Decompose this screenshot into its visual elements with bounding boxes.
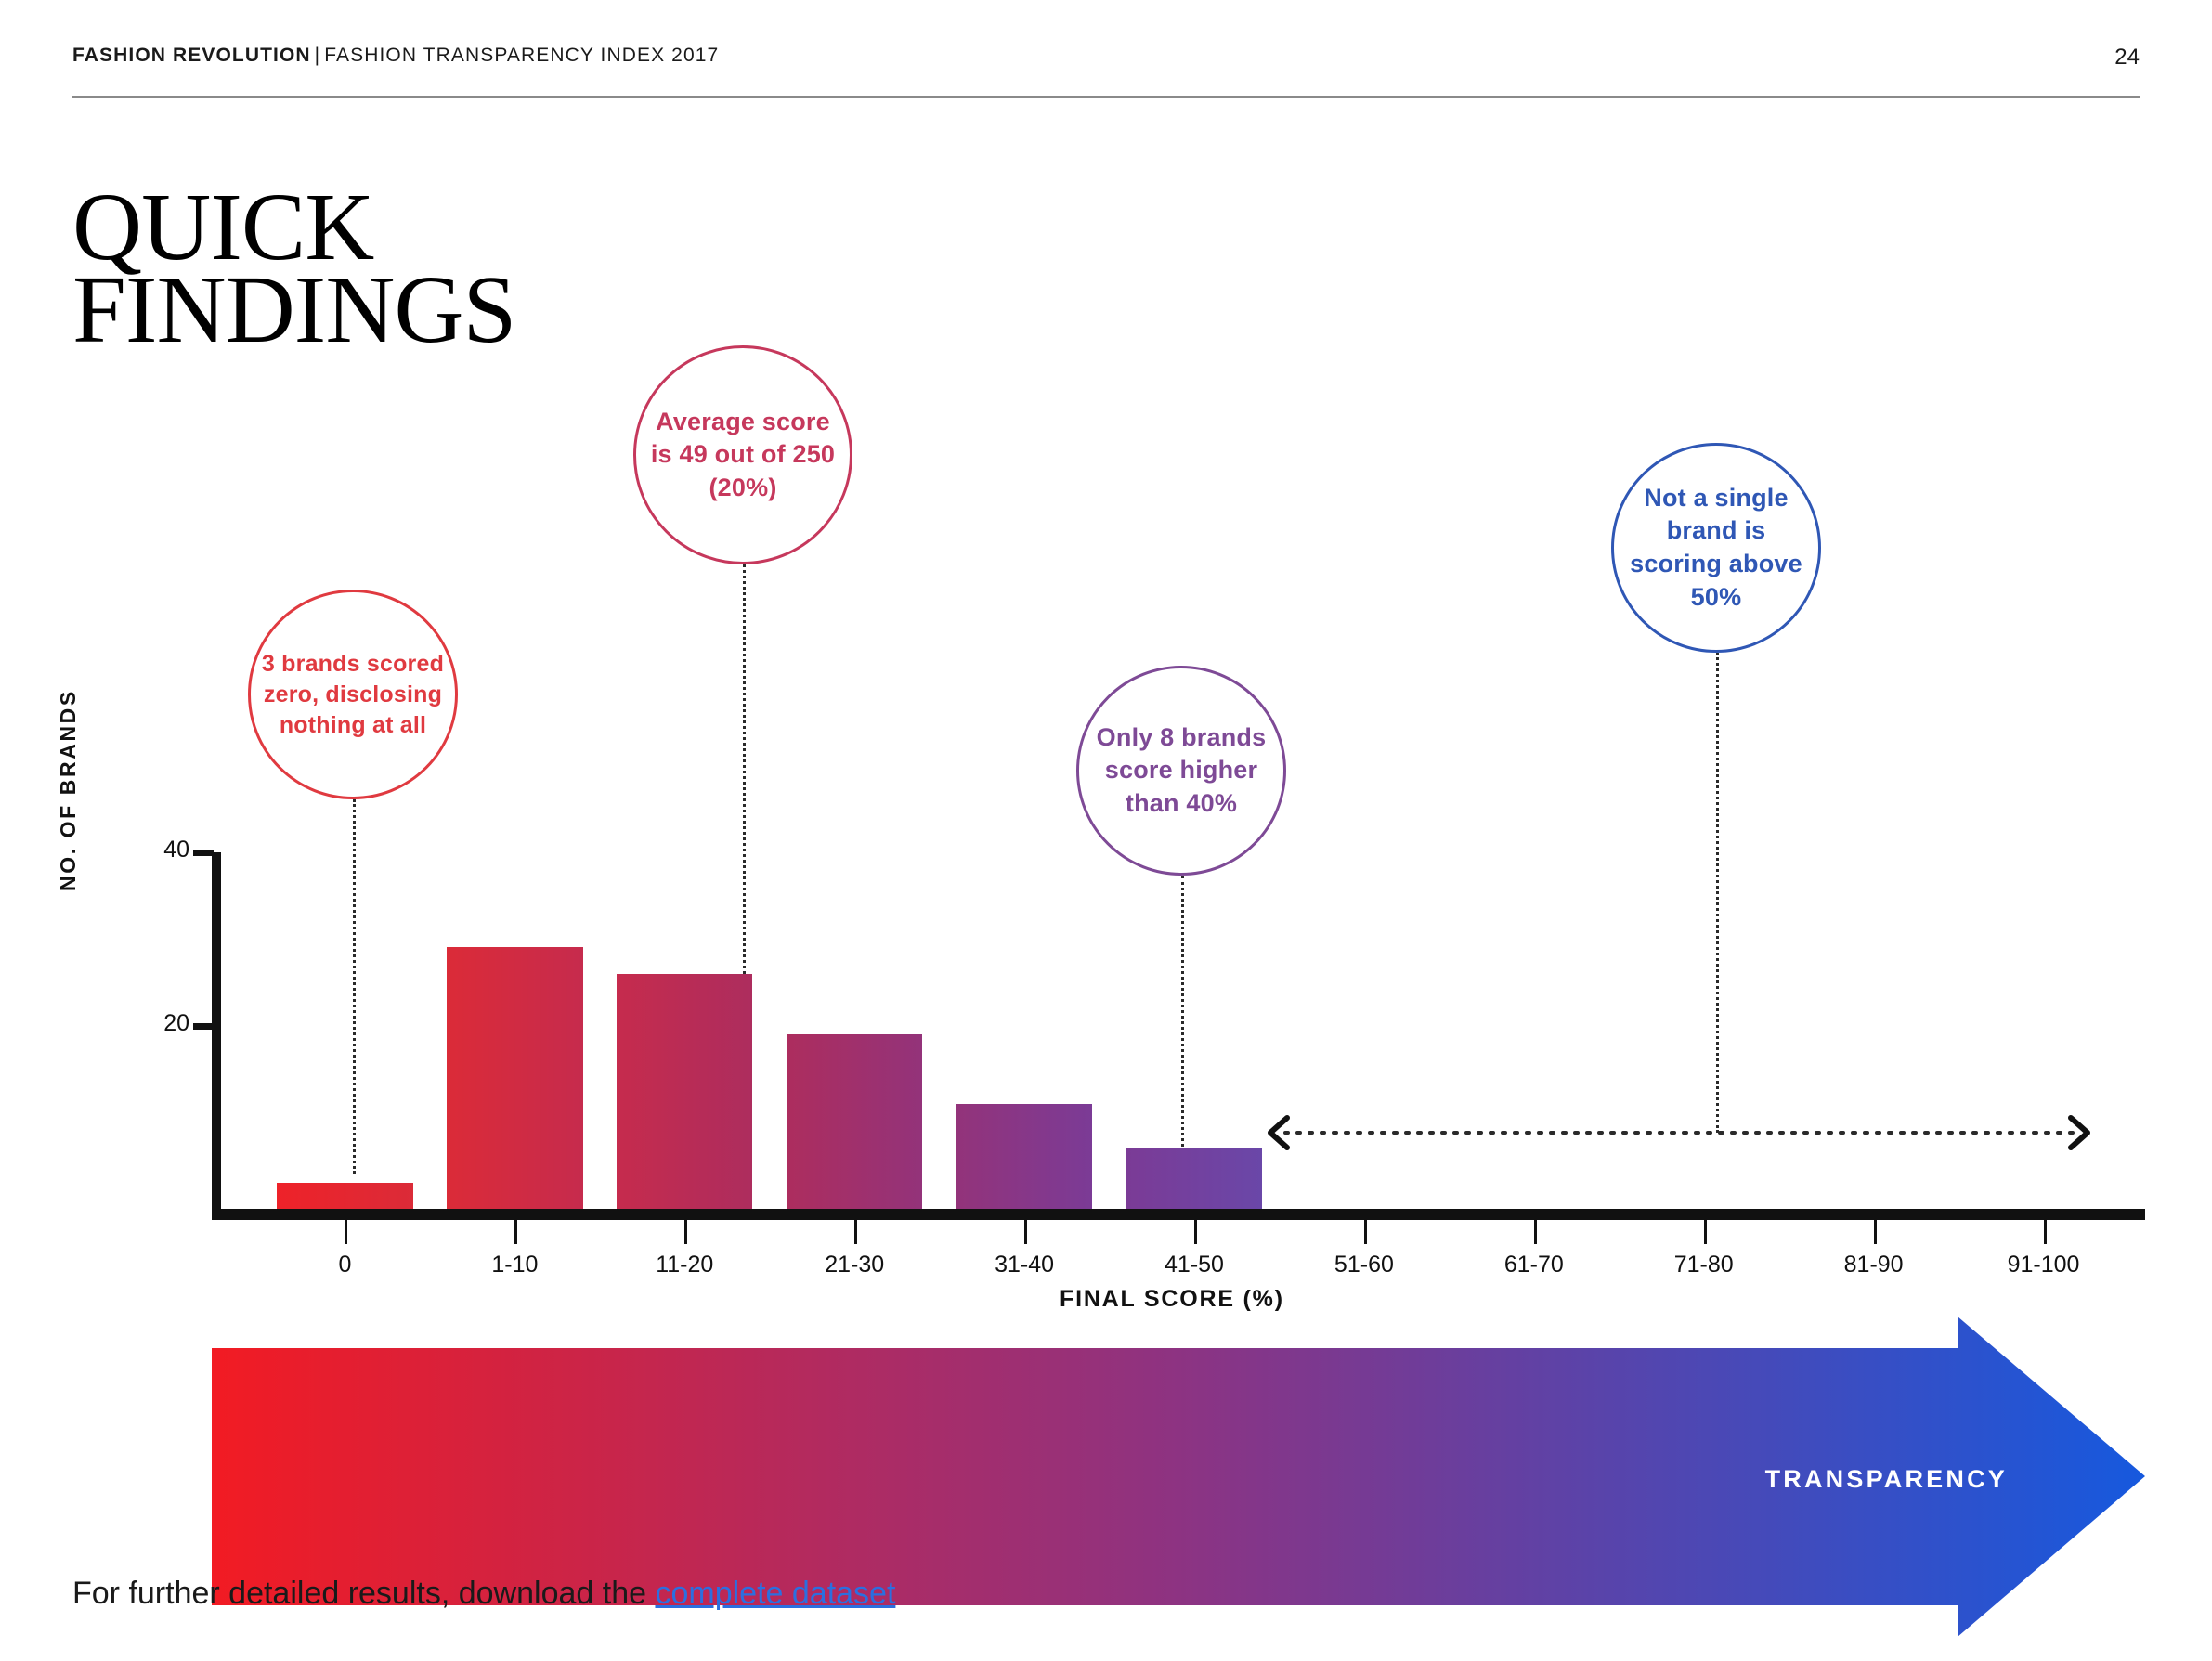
header-divider [72,96,2140,98]
x-tick-label-21-30: 21-30 [825,1252,884,1278]
page-title: QUICK FINDINGS [72,186,515,352]
x-axis-line [212,1209,2145,1220]
bar-11-20 [617,974,752,1209]
x-tick-label-1-10: 1-10 [491,1252,538,1278]
x-tick-label-61-70: 61-70 [1504,1252,1564,1278]
x-tick-label-11-20: 11-20 [656,1252,713,1278]
annotation-leader-only-8-brands [1181,876,1184,1147]
x-tick-label-91-100: 91-100 [2008,1252,2080,1278]
bar-chart-plot: 4020 01-1011-2021-3031-4041-5051-6061-70… [212,852,2145,1224]
x-tick-mark-81-90 [1874,1220,1877,1244]
y-tick-mark-40 [193,850,214,856]
x-tick-label-31-40: 31-40 [995,1252,1054,1278]
x-tick-mark-31-40 [1024,1220,1027,1244]
page-header: FASHION REVOLUTION|FASHION TRANSPARENCY … [72,45,2140,89]
x-tick-mark-21-30 [854,1220,857,1244]
x-tick-mark-51-60 [1364,1220,1367,1244]
annotation-leader-above-50 [1716,653,1719,1133]
x-tick-label-0: 0 [339,1252,352,1278]
x-tick-mark-91-100 [2044,1220,2047,1244]
bar-1-10 [447,947,582,1209]
bar-31-40 [956,1104,1092,1209]
page-title-line-2: FINDINGS [72,268,515,351]
y-axis-title: NO. OF BRANDS [56,689,81,891]
x-axis-title: FINAL SCORE (%) [1060,1286,1284,1313]
footer-note-text: For further detailed results, download t… [72,1576,655,1611]
x-tick-mark-61-70 [1534,1220,1537,1244]
x-tick-mark-11-20 [684,1220,687,1244]
transparency-label: TRANSPARENCY [1765,1465,2008,1494]
x-tick-label-51-60: 51-60 [1334,1252,1394,1278]
x-tick-label-41-50: 41-50 [1165,1252,1224,1278]
annotation-text-above-50: Not a single brand is scoring above 50% [1614,482,1818,615]
bar-41-50 [1126,1148,1262,1209]
header-separator: | [311,45,325,66]
annotation-bubble-only-8-brands: Only 8 brands score higher than 40% [1076,666,1286,876]
y-tick-label-20: 20 [137,1010,189,1037]
bar-21-30 [787,1034,922,1209]
annotation-bubble-zero-brands: 3 brands scored zero, disclosing nothing… [248,590,458,799]
annotation-text-zero-brands: 3 brands scored zero, disclosing nothing… [251,649,455,741]
score-range-span-arrow [1265,1114,2093,1151]
bar-0 [277,1183,412,1209]
annotation-leader-average-score [743,564,746,985]
y-axis-line [212,852,221,1216]
x-tick-mark-1-10 [514,1220,517,1244]
x-tick-mark-71-80 [1704,1220,1707,1244]
y-tick-label-40: 40 [137,837,189,863]
annotation-text-only-8-brands: Only 8 brands score higher than 40% [1079,721,1283,821]
header-title: FASHION REVOLUTION|FASHION TRANSPARENCY … [72,45,719,67]
header-subtitle: FASHION TRANSPARENCY INDEX 2017 [324,45,719,66]
x-tick-label-71-80: 71-80 [1674,1252,1734,1278]
x-tick-mark-41-50 [1194,1220,1197,1244]
annotation-leader-zero-brands [353,799,356,1174]
annotation-bubble-average-score: Average score is 49 out of 250 (20%) [633,345,852,564]
footer-note: For further detailed results, download t… [72,1576,895,1612]
page-number: 24 [2114,45,2140,71]
header-brand-name: FASHION REVOLUTION [72,45,311,66]
x-tick-mark-0 [345,1220,347,1244]
x-tick-label-81-90: 81-90 [1844,1252,1904,1278]
annotation-text-average-score: Average score is 49 out of 250 (20%) [636,406,850,505]
y-tick-mark-20 [193,1023,214,1030]
annotation-bubble-above-50: Not a single brand is scoring above 50% [1611,443,1821,653]
complete-dataset-link[interactable]: complete dataset [655,1576,895,1611]
